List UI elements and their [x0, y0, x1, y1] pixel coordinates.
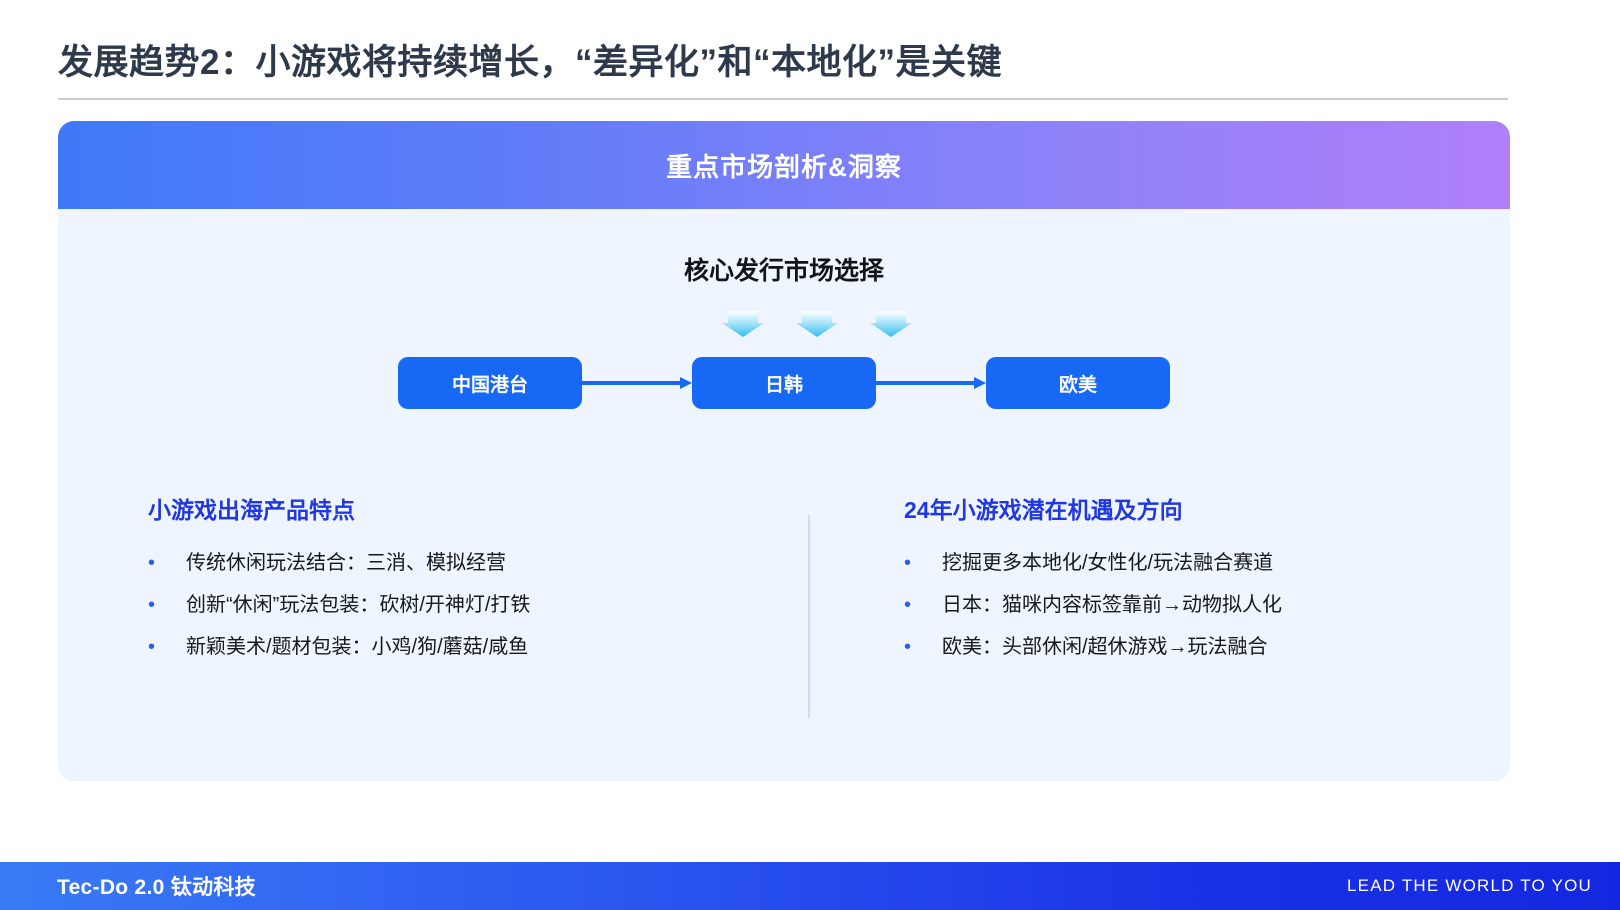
list-item-label: 创新“休闲”玩法包装：砍树/开神灯/打铁 — [186, 594, 530, 617]
list-item-label: 欧美：头部休闲/超休游戏→玩法融合 — [942, 636, 1268, 659]
card-banner: 重点市场剖析&洞察 — [58, 121, 1510, 209]
down-arrow-icon — [722, 307, 764, 337]
bullet-dot-icon: • — [904, 636, 942, 659]
title-divider — [58, 98, 1508, 100]
list-item: • 欧美：头部休闲/超休游戏→玩法融合 — [904, 636, 1510, 659]
flow-step-china[interactable]: 中国港台 — [398, 357, 582, 409]
list-item-label: 日本：猫咪内容标签靠前→动物拟人化 — [942, 594, 1282, 617]
footer-brand: Tec-Do 2.0 钛动科技 — [57, 871, 256, 901]
column-opportunities: 24年小游戏潜在机遇及方向 • 挖掘更多本地化/女性化/玩法融合赛道 • 日本：… — [754, 491, 1510, 721]
bullet-list: • 挖掘更多本地化/女性化/玩法融合赛道 • 日本：猫咪内容标签靠前→动物拟人化… — [904, 552, 1510, 659]
list-item: • 传统休闲玩法结合：三消、模拟经营 — [148, 552, 754, 575]
column-product-traits: 小游戏出海产品特点 • 传统休闲玩法结合：三消、模拟经营 • 创新“休闲”玩法包… — [58, 491, 754, 721]
list-item-label: 新颖美术/题材包装：小鸡/狗/蘑菇/咸鱼 — [186, 636, 528, 659]
column-heading: 24年小游戏潜在机遇及方向 — [904, 491, 1510, 525]
list-item: • 挖掘更多本地化/女性化/玩法融合赛道 — [904, 552, 1510, 575]
arrow-right-icon — [876, 376, 986, 390]
card-banner-title: 重点市场剖析&洞察 — [666, 147, 902, 184]
down-arrow-icon — [796, 307, 838, 337]
flow-diagram: 中国港台 日韩 欧美 — [58, 357, 1510, 409]
list-item: • 创新“休闲”玩法包装：砍树/开神灯/打铁 — [148, 594, 754, 617]
column-heading: 小游戏出海产品特点 — [148, 491, 754, 525]
list-item: • 日本：猫咪内容标签靠前→动物拟人化 — [904, 594, 1510, 617]
footer-tagline: LEAD THE WORLD TO YOU — [1347, 876, 1592, 896]
flow-step-western[interactable]: 欧美 — [986, 357, 1170, 409]
flow-step-japan-korea[interactable]: 日韩 — [692, 357, 876, 409]
arrow-right-icon — [582, 376, 692, 390]
list-item-label: 挖掘更多本地化/女性化/玩法融合赛道 — [942, 552, 1273, 575]
insight-columns: 小游戏出海产品特点 • 传统休闲玩法结合：三消、模拟经营 • 创新“休闲”玩法包… — [58, 491, 1510, 721]
bullet-dot-icon: • — [148, 636, 186, 659]
bullet-dot-icon: • — [148, 594, 186, 617]
bullet-dot-icon: • — [148, 552, 186, 575]
down-arrow-icon — [870, 307, 912, 337]
list-item-label: 传统休闲玩法结合：三消、模拟经营 — [186, 552, 506, 575]
flow-arrow-group — [58, 307, 1510, 337]
content-card: 重点市场剖析&洞察 核心发行市场选择 — [58, 121, 1510, 781]
bullet-list: • 传统休闲玩法结合：三消、模拟经营 • 创新“休闲”玩法包装：砍树/开神灯/打… — [148, 552, 754, 659]
page-title: 发展趋势2：小游戏将持续增长，“差异化”和“本地化”是关键 — [58, 34, 1002, 85]
footer-bar: Tec-Do 2.0 钛动科技 LEAD THE WORLD TO YOU — [0, 862, 1620, 910]
flow-heading: 核心发行市场选择 — [58, 251, 1510, 287]
column-divider — [808, 515, 810, 718]
bullet-dot-icon: • — [904, 552, 942, 575]
bullet-dot-icon: • — [904, 594, 942, 617]
list-item: • 新颖美术/题材包装：小鸡/狗/蘑菇/咸鱼 — [148, 636, 754, 659]
